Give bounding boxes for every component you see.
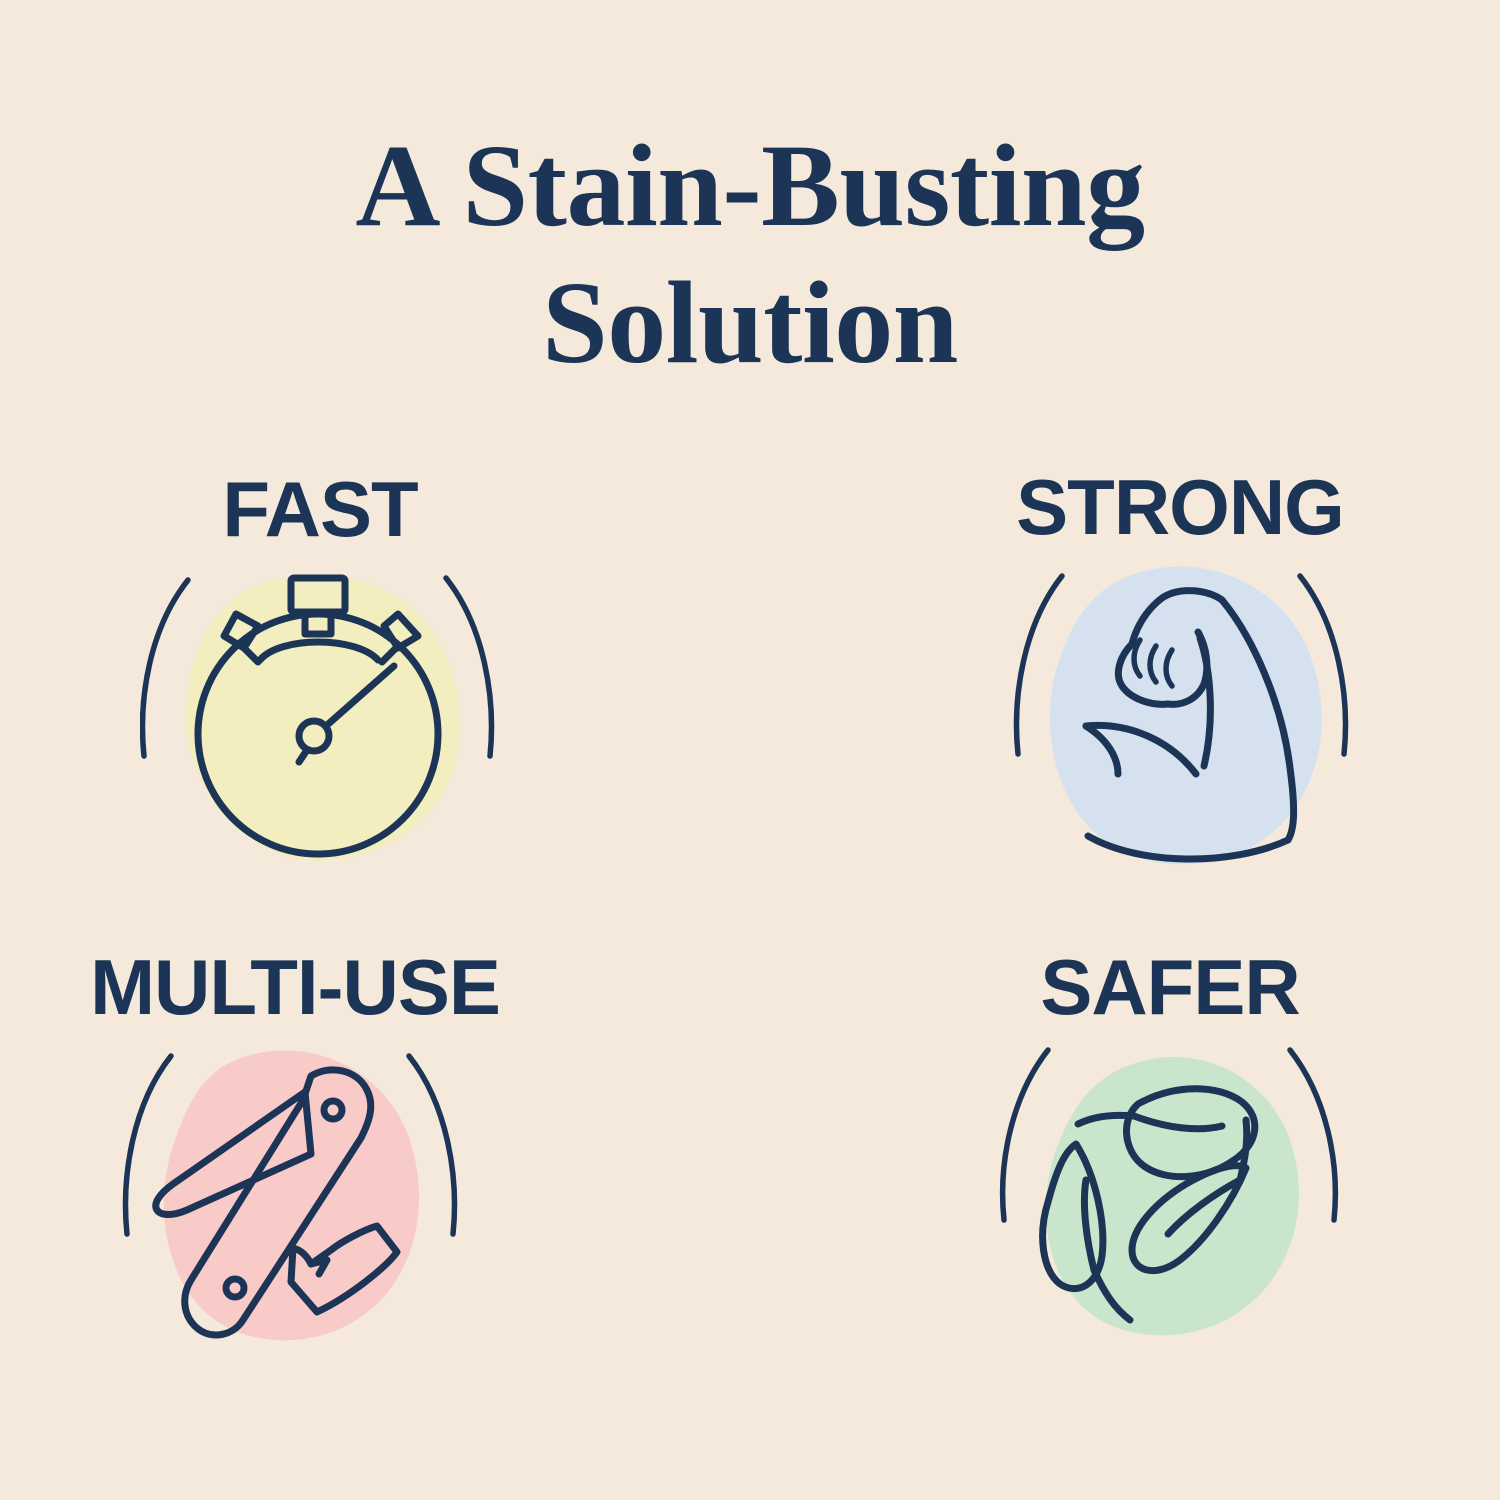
infographic-poster: A Stain-Busting Solution FAST [0,0,1500,1500]
motion-arc-left [143,580,188,756]
yellow-blob [186,575,460,861]
feature-item-fast: FAST [0,470,695,930]
stopwatch-icon [140,556,500,886]
feature-item-multi-use: MULTI-USE [0,948,670,1408]
page-title: A Stain-Busting Solution [0,118,1500,392]
motion-arc-left [1003,1050,1048,1220]
flexed-bicep-icon [1000,554,1360,884]
feature-grid: FAST [0,470,1500,1390]
feature-label-strong: STRONG [1016,468,1344,546]
pocket-knife-icon [115,1034,475,1364]
feature-label-fast: FAST [222,470,417,548]
three-leaves-icon [990,1034,1350,1364]
feature-label-multi-use: MULTI-USE [90,948,500,1026]
feature-label-safer: SAFER [1040,948,1299,1026]
page-title-line-1: A Stain-Busting [0,118,1500,255]
page-title-line-2: Solution [0,255,1500,392]
feature-item-strong: STRONG [805,468,1500,928]
feature-item-safer: SAFER [795,948,1500,1408]
pink-blob [164,1050,419,1340]
